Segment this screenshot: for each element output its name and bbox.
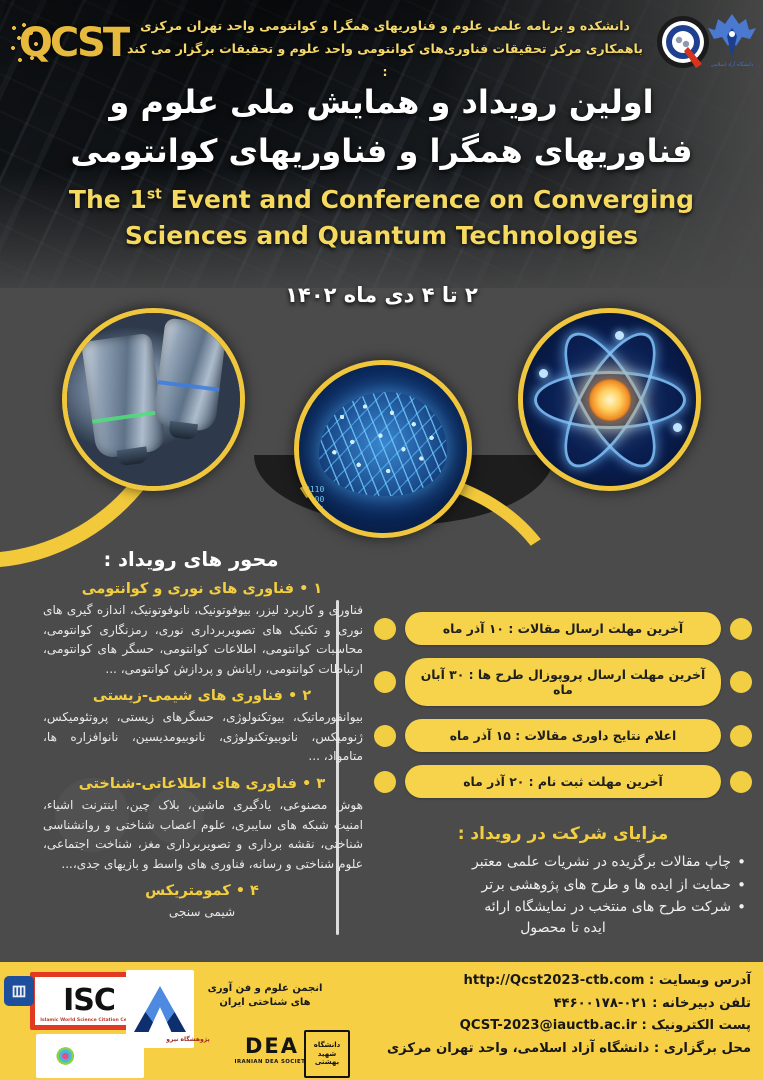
atom-image-circle — [518, 308, 701, 491]
topics-section: محور های رویداد : ۱ • فناوری های نوری و … — [23, 548, 373, 923]
deadline-pill: آخرین مهلت ثبت نام : ۲۰ آذر ماه — [405, 765, 721, 798]
topic-item: ۱ • فناوری های نوری و کوانتومی فناوری و … — [31, 581, 373, 679]
deadline-row: اعلام نتایج داوری مقالات : ۱۵ آذر ماه — [374, 719, 752, 752]
ordinal-suffix: st — [147, 187, 162, 203]
benefit-item: چاپ مقالات برگزیده در نشریات علمی معتبر — [374, 851, 746, 874]
topic-item: ۳ • فناوری های اطلاعاتی-شناختی هوش مصنوع… — [31, 776, 373, 874]
science-mark-icon — [46, 1040, 134, 1072]
isc-logo-text: ISC — [63, 986, 115, 1016]
organizer-text: دانشکده و برنامه علمی علوم و فناوریهای ه… — [125, 14, 645, 83]
topic-body: فناوری و کاربرد لیزر، بیوفوتونیک، نانوفو… — [31, 601, 373, 679]
phone-label: تلفن دبیرخانه : — [652, 996, 751, 1011]
pixel-dissolve-icon — [10, 22, 44, 66]
circuit-brain-image-circle: 0110 0100 1001 1001 — [294, 360, 472, 538]
bullet-dot-icon — [730, 671, 752, 693]
cognitive-association-name: انجمن علوم و فن آوری های شناختی ایران — [200, 982, 330, 1010]
topic-title: ۳ • فناوری های اطلاعاتی-شناختی — [31, 776, 373, 792]
cognitive-mark-icon — [134, 986, 186, 1032]
azad-university-logo: دانشگاه آزاد اسلامی — [706, 10, 758, 76]
topic-title: ۲ • فناوری های شیمی-زیستی — [31, 688, 373, 704]
topic-title: ۴ • کمومتریکس — [31, 883, 373, 899]
email-label: پست الکترونیک : — [641, 1018, 751, 1033]
binary-code-text: 0110 0100 1001 1001 — [305, 485, 324, 525]
deadline-pill: اعلام نتایج داوری مقالات : ۱۵ آذر ماه — [405, 719, 721, 752]
science-technology-logo — [36, 1034, 144, 1078]
topics-heading: محور های رویداد : — [31, 548, 373, 571]
column-divider — [336, 600, 339, 935]
persian-title-line-2: فناوریهای همگرا و فناوریهای کوانتومی — [0, 127, 763, 176]
topic-item: ۲ • فناوری های شیمی-زیستی بیوانفورماتیک،… — [31, 688, 373, 767]
venue-row: محل برگزاری : دانشگاه آزاد اسلامی، واحد … — [340, 1038, 751, 1061]
brain-photo: 0110 0100 1001 1001 — [299, 365, 467, 533]
lens-tip — [116, 446, 149, 466]
contact-info: آدرس وبسایت : http://Qcst2023-ctb.com تل… — [340, 970, 755, 1061]
deadline-row: آخرین مهلت ثبت نام : ۲۰ آذر ماه — [374, 765, 752, 798]
topic-label: فناوری های اطلاعاتی-شناختی — [79, 776, 297, 792]
benefits-heading: مزایای شرکت در رویداد : — [374, 824, 752, 844]
topic-number: ۲ — [302, 688, 311, 704]
bullet-dot-icon — [374, 618, 396, 640]
objective-lens-icon — [81, 333, 167, 460]
benefits-section: مزایای شرکت در رویداد : چاپ مقالات برگزی… — [374, 824, 752, 936]
niru-logo-caption: پژوهشگاه نیرو — [152, 1036, 224, 1043]
english-title: The 1st Event and Conference on Convergi… — [0, 182, 763, 253]
organizer-line-2: باهمکاری مرکز تحقیقات فناوری‌های کوانتوم… — [125, 37, 645, 83]
english-title-the-first: The 1 — [69, 185, 147, 214]
benefit-item: حمایت از ایده ها و طرح های پژوهشی برتر — [374, 874, 746, 897]
english-title-rest: Event and Conference on Converging — [171, 185, 695, 214]
phone-number: ۰۲۱-۴۴۶۰۰۱۷۸ — [553, 996, 647, 1011]
deadline-row: آخرین مهلت ارسال پروپوزال طرح ها : ۳۰ آب… — [374, 658, 752, 706]
website-label: آدرس وبسایت : — [649, 973, 751, 988]
objective-lens-icon — [153, 318, 228, 433]
bullet-dot-icon — [730, 771, 752, 793]
venue-value: دانشگاه آزاد اسلامی، واحد تهران مرکزی — [387, 1041, 649, 1056]
lens-green-ring — [92, 410, 162, 424]
bullet-dot-icon — [730, 725, 752, 747]
organizer-line-1: دانشکده و برنامه علمی علوم و فناوریهای ه… — [125, 14, 645, 37]
benefits-list: چاپ مقالات برگزیده در نشریات علمی معتبر … — [374, 851, 752, 919]
topic-label: فناوری های شیمی-زیستی — [93, 688, 283, 704]
qcst-wordmark-logo: QCST — [8, 8, 138, 78]
phone-row: تلفن دبیرخانه : ۰۲۱-۴۴۶۰۰۱۷۸ — [340, 993, 751, 1016]
electron-dot — [539, 369, 548, 378]
lens-blue-ring — [158, 380, 220, 392]
deadline-pill: آخرین مهلت ارسال پروپوزال طرح ها : ۳۰ آب… — [405, 658, 721, 706]
topic-title: ۱ • فناوری های نوری و کوانتومی — [31, 581, 373, 597]
microscope-image-circle — [62, 308, 245, 491]
microscope-photo — [67, 313, 240, 486]
topic-label: فناوری های نوری و کوانتومی — [82, 581, 294, 597]
topic-number: ۳ — [316, 776, 325, 792]
deadline-pill: آخرین مهلت ارسال مقالات : ۱۰ آذر ماه — [405, 612, 721, 645]
topic-number: ۱ — [313, 581, 322, 597]
benefits-tail: ایده تا محصول — [374, 920, 752, 936]
niru-research-institute-logo: پژوهشگاه نیرو — [152, 1032, 224, 1078]
atom-nucleus — [588, 378, 632, 422]
electron-dot — [673, 423, 682, 432]
topic-body: بیوانفورماتیک، بیوتکنولوژی، حسگرهای زیست… — [31, 708, 373, 767]
english-title-line-2: Sciences and Quantum Technologies — [0, 218, 763, 254]
lens-tip — [169, 421, 198, 440]
atom-photo — [523, 313, 696, 486]
persian-title-line-1: اولین رویداد و همایش ملی علوم و — [0, 78, 763, 127]
bullet-dot-icon — [374, 671, 396, 693]
topic-body: هوش مصنوعی، یادگیری ماشین، بلاک چین، این… — [31, 796, 373, 874]
sponsor-logos: ISC Islamic World Science Citation Cente… — [8, 966, 333, 1078]
website-url[interactable]: http://Qcst2023-ctb.com — [464, 970, 645, 993]
bullet-dot-icon — [374, 771, 396, 793]
footer-bar: ISC Islamic World Science Citation Cente… — [0, 962, 763, 1080]
topic-label: کمومتریکس — [145, 883, 231, 899]
deadline-row: آخرین مهلت ارسال مقالات : ۱۰ آذر ماه — [374, 612, 752, 645]
azad-logo-caption: دانشگاه آزاد اسلامی — [706, 62, 758, 68]
email-row: پست الکترونیک : QCST-2023@iauctb.ac.ir — [340, 1015, 751, 1038]
website-row: آدرس وبسایت : http://Qcst2023-ctb.com — [340, 970, 751, 993]
qcst-circular-logo — [655, 14, 711, 70]
email-address[interactable]: QCST-2023@iauctb.ac.ir — [460, 1015, 637, 1038]
deadlines-section: آخرین مهلت ارسال مقالات : ۱۰ آذر ماه آخر… — [374, 612, 752, 811]
benefit-item: شرکت طرح های منتخب در نمایشگاه ارائه — [374, 896, 746, 919]
topic-number: ۴ — [250, 883, 259, 899]
bullet-dot-icon — [730, 618, 752, 640]
english-title-line-1: The 1st Event and Conference on Convergi… — [0, 182, 763, 218]
conference-poster: QCST دانشکده و برنامه علمی علوم و فناوری… — [0, 0, 763, 1080]
building-icon — [4, 976, 34, 1006]
brain-nodes — [319, 392, 447, 496]
venue-label: محل برگزاری : — [654, 1041, 751, 1056]
electron-dot — [615, 331, 624, 340]
topic-item: ۴ • کمومتریکس شیمی سنجی — [31, 883, 373, 922]
event-date: ۲ تا ۴ دی ماه ۱۴۰۲ — [0, 283, 763, 307]
persian-title: اولین رویداد و همایش ملی علوم و فناوریها… — [0, 78, 763, 175]
topic-body: شیمی سنجی — [31, 903, 373, 922]
bullet-dot-icon — [374, 725, 396, 747]
